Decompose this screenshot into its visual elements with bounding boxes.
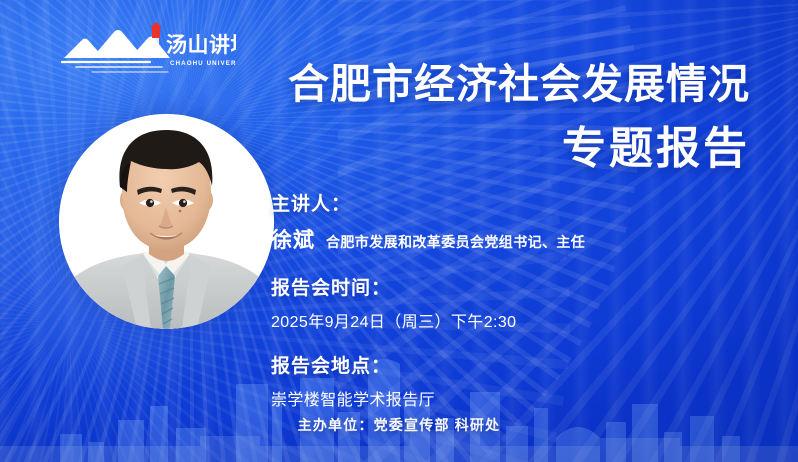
poster-canvas: 汤山讲坛 CHAOHU UNIVERSITY — [0, 0, 798, 462]
headline-line-1: 合肥市经济社会发展情况 — [288, 59, 750, 109]
page-title: 合肥市经济社会发展情况 专题报告 — [288, 59, 750, 177]
speaker-title: 合肥市发展和改革委员会党组书记、主任 — [326, 232, 585, 252]
brand-logo: 汤山讲坛 CHAOHU UNIVERSITY — [58, 22, 236, 78]
place-block: 报告会地点： 崇学楼智能学术报告厅 — [271, 351, 585, 410]
place-label: 报告会地点： — [271, 351, 585, 378]
time-label: 报告会时间： — [271, 273, 585, 300]
logo-en-text: CHAOHU UNIVERSITY — [170, 60, 236, 67]
headline-line-2: 专题报告 — [288, 121, 750, 177]
time-value: 2025年9月24日（周三）下午2:30 — [271, 308, 585, 332]
place-value: 崇学楼智能学术报告厅 — [271, 386, 585, 410]
organizer-footer: 主办单位：党委宣传部 科研处 — [0, 415, 798, 435]
portrait-circle-frame — [59, 114, 274, 329]
speaker-label: 主讲人： — [271, 189, 585, 216]
event-details: 主讲人： 徐斌 合肥市发展和改革委员会党组书记、主任 报告会时间： 2025年9… — [271, 189, 585, 410]
time-block: 报告会时间： 2025年9月24日（周三）下午2:30 — [271, 273, 585, 332]
portrait-illustration — [59, 114, 274, 329]
logo-cn-text: 汤山讲坛 — [166, 33, 236, 57]
speaker-row: 徐斌 合肥市发展和改革委员会党组书记、主任 — [271, 224, 585, 254]
speaker-name: 徐斌 — [271, 224, 315, 254]
speaker-portrait — [59, 114, 274, 329]
